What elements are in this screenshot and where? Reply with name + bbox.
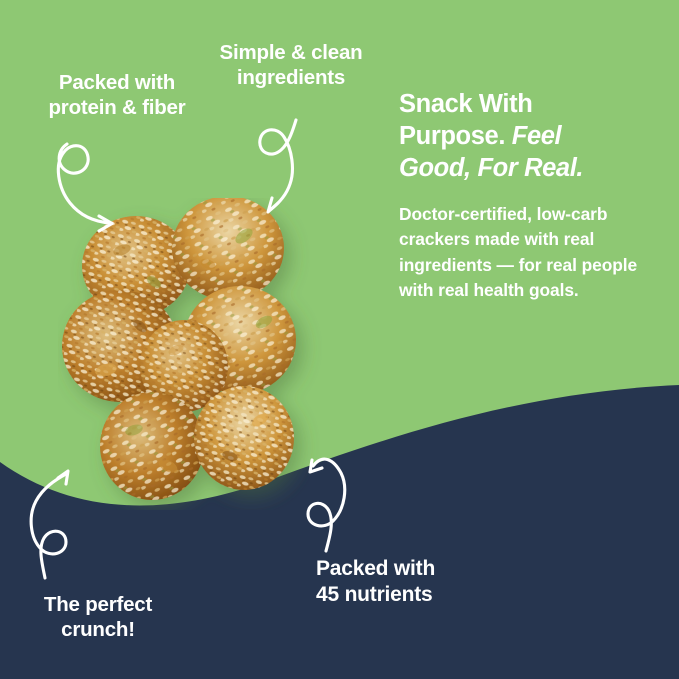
body-paragraph: Doctor-certified, low-carb crackers made…: [399, 202, 647, 302]
callout-label-ingredients: Simple & clean ingredients: [196, 40, 386, 90]
cracker-6: [100, 392, 204, 500]
cracker-7: [194, 386, 294, 490]
product-hero-banner: Packed with protein & fiber Simple & cle…: [0, 0, 679, 679]
headline-line-2: Purpose.: [399, 122, 512, 150]
product-image-seed-crackers: [58, 198, 348, 510]
page-title: Snack WithPurpose. FeelGood, For Real.: [399, 88, 647, 184]
headline-emphasis-1: Feel: [512, 122, 562, 150]
headline-line-1: Snack With: [399, 90, 532, 118]
callout-label-crunch: The perfect crunch!: [6, 592, 190, 642]
callout-label-protein: Packed with protein & fiber: [22, 70, 212, 120]
marketing-copy-block: Snack WithPurpose. FeelGood, For Real. D…: [399, 88, 647, 303]
headline-emphasis-2: Good, For Real.: [399, 154, 583, 182]
callout-label-nutrients: Packed with 45 nutrients: [316, 556, 546, 607]
cracker-cluster: [62, 198, 296, 500]
